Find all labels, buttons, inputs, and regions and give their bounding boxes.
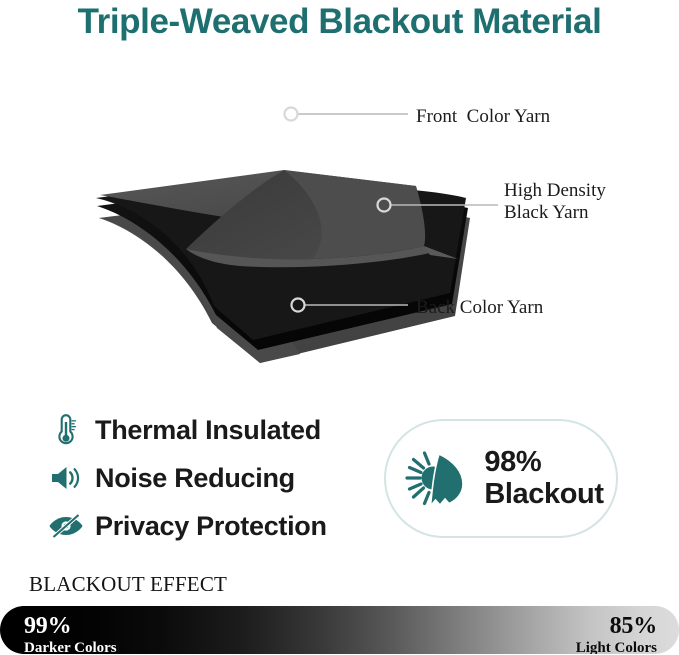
circle-marker-front [285, 108, 298, 121]
effect-left-group: 99% Darker Colors [24, 614, 117, 654]
feature-list: Thermal Insulated Noise Reducing Privacy… [44, 406, 364, 550]
effect-left-percent: 99% [24, 614, 117, 638]
blackout-effect-title: BLACKOUT EFFECT [29, 572, 227, 597]
effect-right-percent: 85% [576, 614, 657, 638]
page-title: Triple-Weaved Blackout Material [0, 2, 679, 42]
callout-label-front: Front Color Yarn [416, 106, 550, 128]
feature-label-noise-reducing: Noise Reducing [95, 463, 295, 494]
blackout-badge-text: 98% Blackout [484, 447, 603, 510]
callout-label-back: Back Color Yarn [416, 297, 543, 319]
feature-item-privacy-protection: Privacy Protection [44, 502, 364, 550]
callout-label-high-density: High Density Black Yarn [504, 180, 606, 225]
effect-right-group: 85% Light Colors [576, 614, 657, 654]
blackout-effect-bar: 99% Darker Colors 85% Light Colors [0, 606, 679, 654]
feature-label-privacy-protection: Privacy Protection [95, 511, 327, 542]
blackout-badge: 98% Blackout [384, 419, 618, 538]
effect-left-label: Darker Colors [24, 641, 117, 654]
thermometer-icon [44, 410, 88, 450]
effect-right-label: Light Colors [576, 641, 657, 654]
speaker-sound-icon [44, 458, 88, 498]
blackout-percent: 98% [484, 446, 541, 478]
feature-label-thermal-insulated: Thermal Insulated [95, 415, 321, 446]
feature-item-thermal-insulated: Thermal Insulated [44, 406, 364, 454]
feature-item-noise-reducing: Noise Reducing [44, 454, 364, 502]
sun-behind-curtain-icon [398, 444, 472, 514]
eye-slash-icon [44, 506, 88, 546]
blackout-label: Blackout [484, 478, 603, 510]
